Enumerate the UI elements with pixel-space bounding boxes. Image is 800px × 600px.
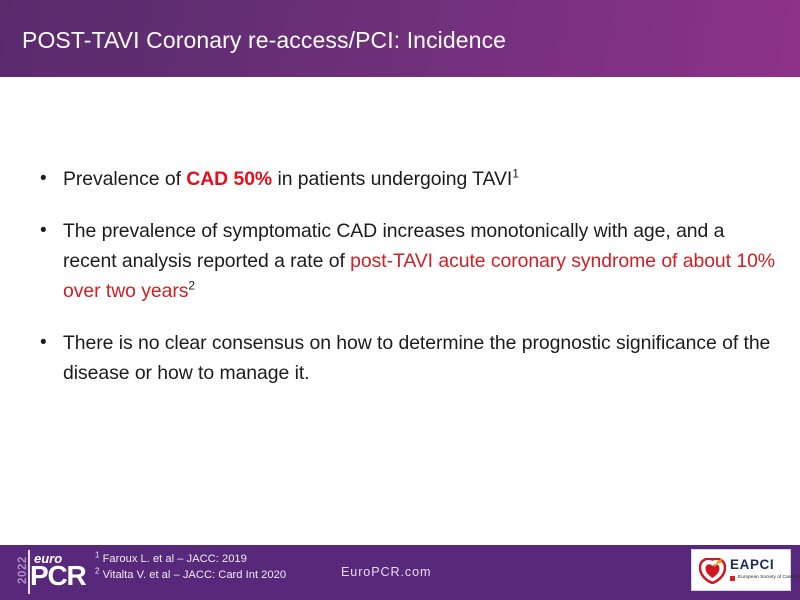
- bullet-marker: •: [40, 216, 47, 246]
- logo-pcr-label: PCR: [30, 561, 86, 591]
- bullet-text: There is no clear consensus on how to de…: [63, 332, 770, 384]
- europcr-logo: 2022 euro PCR: [10, 548, 92, 596]
- bullet-text: Prevalence of CAD 50% in patients underg…: [63, 168, 519, 190]
- bullet-text: The prevalence of symptomatic CAD increa…: [63, 220, 775, 302]
- eapci-logo: EAPCI European Society of Cardiology: [691, 549, 791, 591]
- list-item: • The prevalence of symptomatic CAD incr…: [36, 216, 776, 306]
- reference-marker-2: 2: [188, 279, 195, 293]
- references-block: 1 Faroux L. et al – JACC: 2019 2 Vitalta…: [95, 552, 286, 583]
- bullet-list: • Prevalence of CAD 50% in patients unde…: [36, 164, 776, 410]
- highlight-cad-50: CAD 50%: [186, 168, 272, 190]
- reference-line-2: 2 Vitalta V. et al – JACC: Card Int 2020: [95, 568, 286, 584]
- esc-mark-icon: [730, 576, 735, 581]
- slide: POST-TAVI Coronary re-access/PCI: Incide…: [0, 0, 800, 600]
- bullet-marker: •: [40, 164, 47, 194]
- slide-header-bar: POST-TAVI Coronary re-access/PCI: Incide…: [0, 0, 800, 77]
- page-title: POST-TAVI Coronary re-access/PCI: Incide…: [22, 27, 506, 54]
- site-url-label[interactable]: EuroPCR.com: [341, 565, 431, 579]
- reference-marker-1: 1: [512, 167, 519, 181]
- eapci-name-label: EAPCI: [730, 558, 774, 572]
- list-item: • Prevalence of CAD 50% in patients unde…: [36, 164, 776, 194]
- list-item: • There is no clear consensus on how to …: [36, 328, 776, 388]
- slide-content: • Prevalence of CAD 50% in patients unde…: [0, 77, 800, 545]
- heart-icon: [699, 558, 726, 584]
- bullet-marker: •: [40, 328, 47, 358]
- reference-line-1: 1 Faroux L. et al – JACC: 2019: [95, 552, 286, 568]
- eapci-subtitle-label: European Society of Cardiology: [738, 575, 800, 581]
